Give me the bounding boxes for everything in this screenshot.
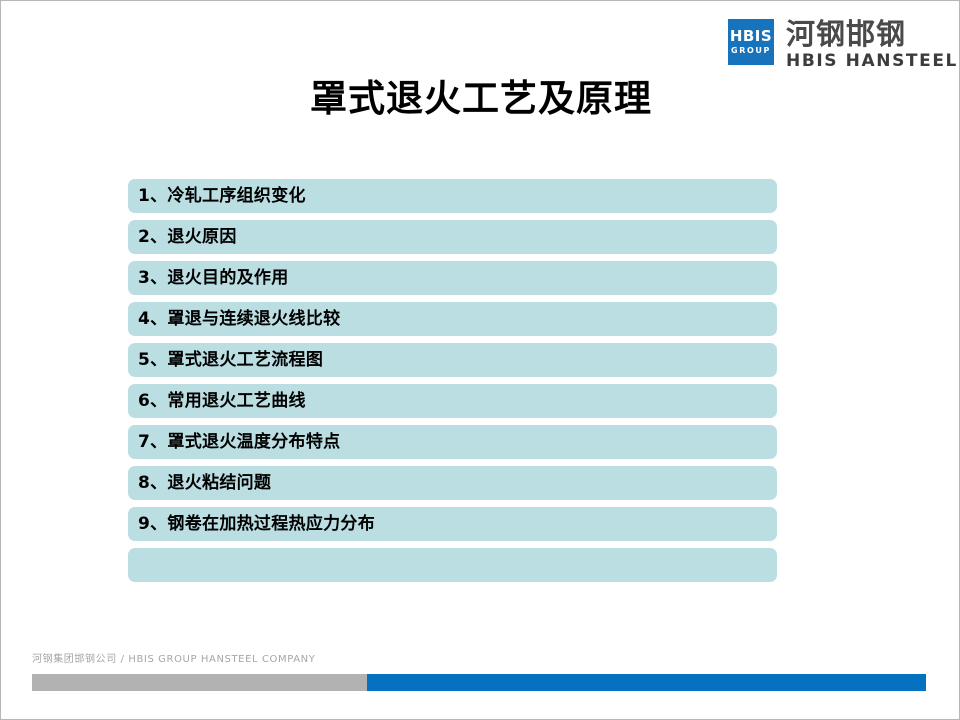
list-item-label: 3、退火目的及作用 [128, 268, 289, 288]
list-item-label: 2、退火原因 [128, 227, 237, 247]
logo-mark-top-text: HBIS [730, 28, 772, 44]
list-item-label: 6、常用退火工艺曲线 [128, 391, 306, 411]
logo-mark-bottom-text: GROUP [731, 45, 771, 56]
list-item-label: 1、冷轧工序组织变化 [128, 186, 306, 206]
list-item[interactable]: 4、罩退与连续退火线比较 [128, 302, 777, 336]
logo-name-english: HBIS HANSTEEL [786, 52, 958, 71]
slide-canvas: HBIS GROUP 河钢邯钢 HBIS HANSTEEL 罩式退火工艺及原理 … [0, 0, 960, 720]
list-item-label: 5、罩式退火工艺流程图 [128, 350, 323, 370]
list-item[interactable]: 8、退火粘结问题 [128, 466, 777, 500]
list-item-label: 9、钢卷在加热过程热应力分布 [128, 514, 375, 534]
footer-company-text: 河钢集团邯钢公司 / HBIS GROUP HANSTEEL COMPANY [32, 653, 315, 667]
list-item-empty[interactable] [128, 548, 777, 582]
list-item[interactable]: 6、常用退火工艺曲线 [128, 384, 777, 418]
page-title: 罩式退火工艺及原理 [1, 77, 960, 121]
list-item[interactable]: 3、退火目的及作用 [128, 261, 777, 295]
list-item-label: 7、罩式退火温度分布特点 [128, 432, 340, 452]
list-item[interactable]: 5、罩式退火工艺流程图 [128, 343, 777, 377]
hbis-logo: HBIS GROUP 河钢邯钢 HBIS HANSTEEL [728, 19, 958, 75]
agenda-list: 1、冷轧工序组织变化 2、退火原因 3、退火目的及作用 4、罩退与连续退火线比较… [128, 179, 777, 582]
footer-bar-gray-segment [32, 674, 367, 691]
list-item[interactable]: 2、退火原因 [128, 220, 777, 254]
footer-bar [32, 674, 926, 691]
list-item[interactable]: 7、罩式退火温度分布特点 [128, 425, 777, 459]
hbis-group-logo-mark: HBIS GROUP [728, 19, 774, 65]
footer-bar-blue-segment [367, 674, 926, 691]
list-item-label: 4、罩退与连续退火线比较 [128, 309, 340, 329]
logo-wordmark: 河钢邯钢 HBIS HANSTEEL [786, 19, 958, 71]
list-item[interactable]: 1、冷轧工序组织变化 [128, 179, 777, 213]
list-item[interactable]: 9、钢卷在加热过程热应力分布 [128, 507, 777, 541]
list-item-label: 8、退火粘结问题 [128, 473, 271, 493]
logo-name-chinese: 河钢邯钢 [786, 19, 958, 50]
